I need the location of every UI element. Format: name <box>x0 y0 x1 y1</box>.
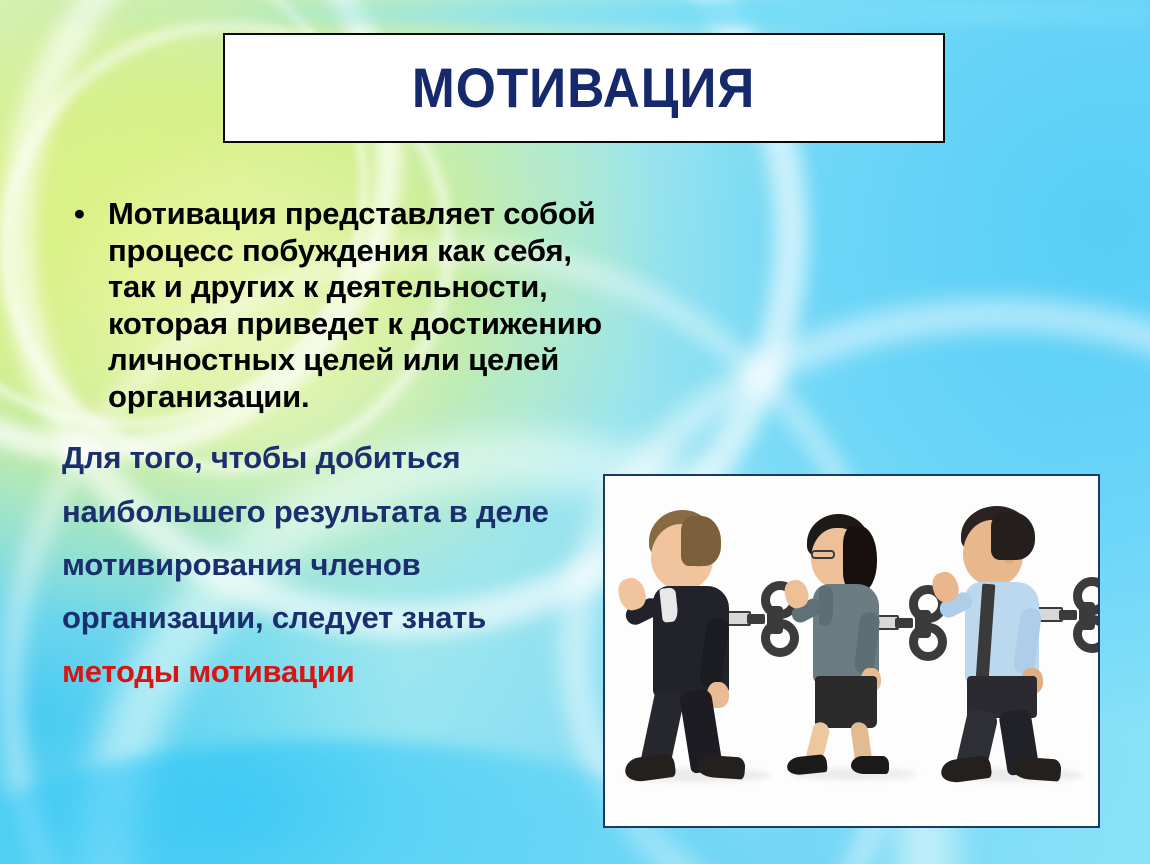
illustration-canvas <box>605 476 1098 826</box>
body-content: • Мотивация представляет собой процесс п… <box>62 196 622 698</box>
figure-heel-back <box>851 756 889 774</box>
figure-man-blue-shirt <box>933 504 1095 788</box>
secondary-paragraph-accent: методы мотивации <box>62 654 355 689</box>
bullet-dot-icon: • <box>62 196 108 233</box>
title-box: МОТИВАЦИЯ <box>223 33 945 143</box>
figure-shirt-collar <box>659 587 678 622</box>
figure-hair-back <box>991 512 1035 560</box>
figure-skirt <box>815 676 877 728</box>
bullet-paragraph-text: Мотивация представляет собой процесс поб… <box>108 196 622 415</box>
page-title: МОТИВАЦИЯ <box>412 60 755 116</box>
background-edge-top <box>0 0 1150 26</box>
illustration-frame <box>603 474 1100 828</box>
figure-woman-grey-blazer <box>781 512 931 782</box>
figure-man-dark-suit <box>619 506 779 786</box>
figure-glasses-icon <box>811 550 835 559</box>
bullet-paragraph: • Мотивация представляет собой процесс п… <box>62 196 622 415</box>
figure-ponytail <box>843 526 877 592</box>
figure-hair-back <box>681 516 721 566</box>
secondary-paragraph: Для того, чтобы добиться наибольшего рез… <box>62 431 602 698</box>
secondary-paragraph-prefix: Для того, чтобы добиться наибольшего рез… <box>62 440 549 635</box>
presentation-slide: МОТИВАЦИЯ • Мотивация представляет собой… <box>0 0 1150 864</box>
